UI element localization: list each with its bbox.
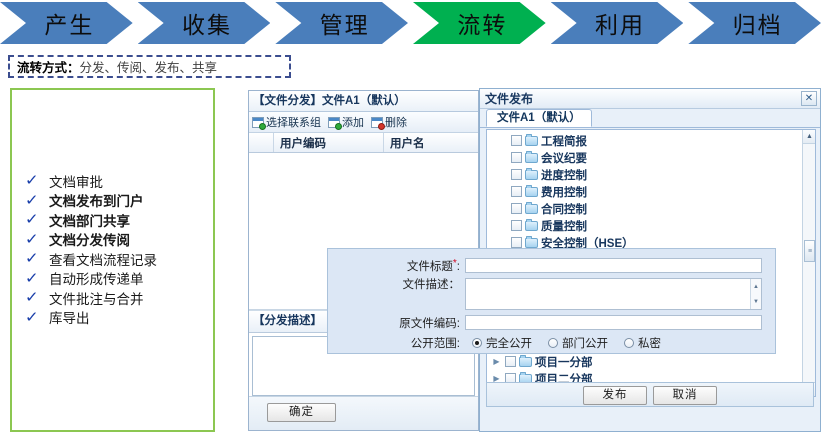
process-step-6[interactable]: 归档 [688, 2, 821, 44]
tree-item[interactable]: ▶合同控制 [491, 200, 815, 217]
checklist-item: ✓文档发布到门户 [26, 191, 157, 211]
checklist-item-label: 查看文档流程记录 [49, 249, 157, 269]
tree-item[interactable]: ▶进度控制 [491, 166, 815, 183]
scroll-up-icon[interactable]: ▲ [803, 130, 816, 144]
checklist-item-label: 自动形成传递单 [49, 268, 144, 288]
process-step-3[interactable]: 管理 [275, 2, 408, 44]
tree-item[interactable]: ▶质量控制 [491, 217, 815, 234]
checklist-item: ✓文件批注与合并 [26, 288, 157, 308]
distribute-footer: 确定 [249, 396, 478, 430]
chevron-right-icon[interactable]: ▶ [491, 358, 502, 366]
table-column-header[interactable]: 用户编码 [274, 133, 384, 152]
process-step-label: 管理 [314, 6, 370, 40]
checklist-item: ✓自动形成传递单 [26, 269, 157, 289]
process-step-1[interactable]: 产生 [0, 2, 133, 44]
tree-item-label: 费用控制 [541, 184, 587, 200]
original-file-code-input[interactable] [465, 315, 762, 330]
checklist-item-label: 库导出 [49, 307, 90, 327]
required-marker: * [453, 258, 457, 269]
checkbox[interactable] [511, 237, 522, 248]
scope-radio-group: 完全公开部门公开私密 [472, 335, 677, 351]
feature-checklist-box: ✓文档审批✓文档发布到门户✓文档部门共享✓文档分发传阅✓查看文档流程记录✓自动形… [10, 88, 215, 432]
scope-option-label: 完全公开 [486, 335, 532, 351]
checklist-item-label: 文档部门共享 [49, 210, 130, 230]
checkbox[interactable] [511, 152, 522, 163]
checklist-item: ✓查看文档流程记录 [26, 249, 157, 269]
publish-window-tabstrip: 文件A1（默认） [480, 109, 820, 128]
distribute-toolbar: 选择联系组添加删除 [249, 112, 478, 133]
tree-item[interactable]: ▶项目一分部 [491, 353, 815, 370]
table-column-header[interactable] [249, 133, 274, 152]
plus-badge-icon [259, 123, 266, 130]
toolbar-button-label: 添加 [342, 114, 364, 130]
process-step-2[interactable]: 收集 [138, 2, 271, 44]
checkbox[interactable] [511, 135, 522, 146]
check-icon: ✓ [25, 310, 50, 325]
tree-item-label: 质量控制 [541, 218, 587, 234]
confirm-button[interactable]: 确定 [267, 403, 336, 422]
tree-item-label: 项目一分部 [535, 354, 593, 370]
close-icon[interactable]: ✕ [801, 91, 817, 106]
tree-item-label: 进度控制 [541, 167, 587, 183]
tab-file-a1[interactable]: 文件A1（默认） [486, 109, 592, 127]
checklist-item: ✓文档部门共享 [26, 210, 157, 230]
radio-button[interactable] [548, 338, 558, 348]
flow-mode-value: 分发、传阅、发布、共享 [80, 57, 218, 76]
radio-button[interactable] [624, 338, 634, 348]
folder-icon [525, 170, 538, 180]
checklist-item-label: 文档发布到门户 [49, 190, 144, 210]
distribute-panel-title: 【文件分发】文件A1（默认） [249, 91, 478, 112]
folder-icon [519, 357, 532, 367]
folder-icon [525, 221, 538, 231]
delete-button[interactable]: 删除 [371, 114, 407, 130]
publish-tree-scrollbar[interactable]: ▲ ≡ ▼ [802, 130, 815, 396]
checkbox[interactable] [505, 356, 516, 367]
plus-badge-icon [335, 123, 342, 130]
publish-window-title: 文件发布 [485, 90, 801, 107]
publish-window-titlebar: 文件发布 ✕ [480, 89, 820, 109]
table-column-header[interactable]: 用户名 [384, 133, 478, 152]
remove-badge-icon [378, 123, 385, 130]
check-icon: ✓ [25, 251, 50, 266]
process-step-label: 归档 [727, 6, 783, 40]
tree-item[interactable]: ▶会议纪要 [491, 149, 815, 166]
process-step-label: 利用 [589, 6, 645, 40]
process-step-label: 收集 [176, 6, 232, 40]
checklist-item: ✓文档审批 [26, 171, 157, 191]
add-button[interactable]: 添加 [328, 114, 364, 130]
checklist-item-label: 文档分发传阅 [49, 229, 130, 249]
checkbox[interactable] [511, 220, 522, 231]
toolbar-button-label: 删除 [385, 114, 407, 130]
select-group-button[interactable]: 选择联系组 [252, 114, 321, 130]
file-desc-textarea[interactable]: ▲ ▼ [465, 278, 762, 310]
check-icon: ✓ [25, 271, 50, 286]
flow-mode-callout: 流转方式： 分发、传阅、发布、共享 [8, 55, 291, 78]
process-step-5[interactable]: 利用 [551, 2, 684, 44]
folder-icon [525, 187, 538, 197]
folder-icon [525, 238, 538, 248]
scroll-up-icon[interactable]: ▲ [751, 279, 761, 294]
cancel-button[interactable]: 取消 [653, 386, 717, 405]
file-desc-label: 文件描述： [328, 278, 460, 292]
scroll-down-icon[interactable]: ▼ [751, 294, 761, 309]
scope-radio-option[interactable]: 私密 [624, 335, 677, 351]
scope-option-label: 私密 [638, 335, 661, 351]
check-icon: ✓ [25, 290, 50, 305]
process-step-label: 流转 [451, 6, 507, 40]
checklist-item: ✓文档分发传阅 [26, 230, 157, 250]
tree-item-label: 工程简报 [541, 133, 587, 149]
original-file-code-label: 原文件编码: [328, 315, 460, 331]
select-group-icon [252, 117, 264, 128]
checklist-item-label: 文件批注与合并 [49, 288, 144, 308]
radio-button[interactable] [472, 338, 482, 348]
flow-mode-key: 流转方式： [17, 57, 80, 76]
check-icon: ✓ [25, 212, 50, 227]
tree-item-label: 合同控制 [541, 201, 587, 217]
file-title-input[interactable] [465, 258, 762, 273]
delete-icon [371, 117, 383, 128]
folder-icon [525, 204, 538, 214]
publish-form-dialog: 文件标题*: 文件描述： ▲ ▼ 原文件编码: 公开范围: 完全公开部门公开私密 [327, 248, 776, 354]
tree-item[interactable]: ▶费用控制 [491, 183, 815, 200]
feature-checklist: ✓文档审批✓文档发布到门户✓文档部门共享✓文档分发传阅✓查看文档流程记录✓自动形… [26, 171, 157, 327]
checkbox[interactable] [511, 186, 522, 197]
tree-item-label: 会议纪要 [541, 150, 587, 166]
scope-option-label: 部门公开 [562, 335, 608, 351]
checkbox[interactable] [511, 203, 522, 214]
check-icon: ✓ [25, 193, 50, 208]
tree-item[interactable]: ▶工程简报 [491, 132, 815, 149]
scope-radio-option[interactable]: 完全公开 [472, 335, 548, 351]
distribute-table-header: 用户编码用户名 [249, 133, 478, 153]
checklist-item: ✓库导出 [26, 308, 157, 328]
check-icon: ✓ [25, 232, 50, 247]
publish-window-footer: 发布 取消 [486, 382, 814, 407]
scope-label: 公开范围: [328, 335, 460, 351]
folder-icon [525, 136, 538, 146]
publish-button[interactable]: 发布 [583, 386, 647, 405]
file-title-label: 文件标题*: [328, 258, 460, 274]
scrollbar-thumb[interactable]: ≡ [804, 240, 815, 262]
process-step-4[interactable]: 流转 [413, 2, 546, 44]
process-step-label: 产生 [38, 6, 94, 40]
process-breadcrumb: 产生收集管理流转利用归档 [0, 2, 826, 44]
folder-icon [525, 153, 538, 163]
add-icon [328, 117, 340, 128]
checkbox[interactable] [511, 169, 522, 180]
toolbar-button-label: 选择联系组 [266, 114, 321, 130]
check-icon: ✓ [25, 173, 50, 188]
checklist-item-label: 文档审批 [49, 171, 103, 191]
textarea-scrollbar[interactable]: ▲ ▼ [750, 279, 761, 309]
scope-radio-option[interactable]: 部门公开 [548, 335, 624, 351]
